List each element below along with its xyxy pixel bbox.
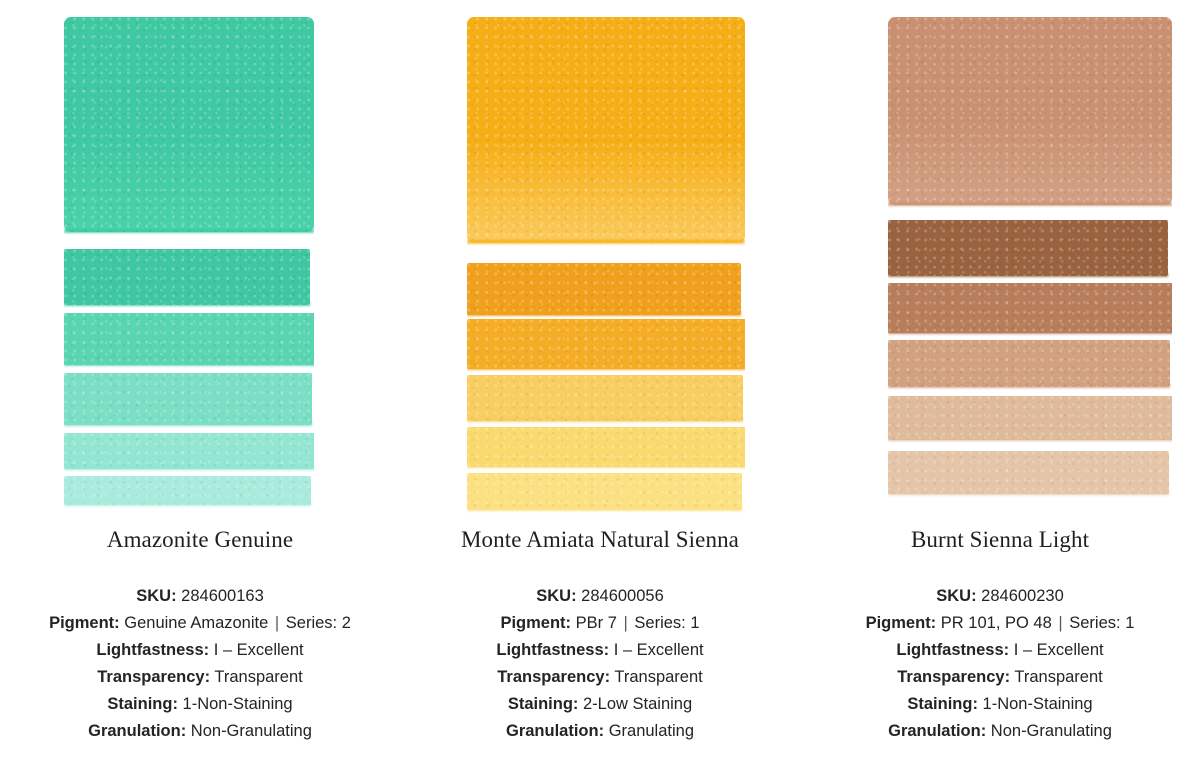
spec-label-transparency: Transparency: [897,668,1010,686]
spec-value-series: 1 [690,614,699,632]
swatch-band-4 [64,373,312,425]
product-card-burnt-sienna-light[interactable]: Burnt Sienna Light SKU: 284600230 Pigmen… [800,0,1200,784]
swatch-band-3 [467,319,745,369]
spec-value-granulation: Non-Granulating [991,722,1112,740]
swatch-band-4 [467,375,743,421]
spec-label-sku: SKU: [536,587,576,605]
spec-label-lightfastness: Lightfastness: [496,641,609,659]
spec-label-pigment: Pigment: [500,614,571,632]
spec-label-sku: SKU: [136,587,176,605]
spec-transparency: Transparency: Transparent [400,664,800,691]
spec-lightfastness: Lightfastness: I – Excellent [800,637,1200,664]
spec-value-lightfastness: I – Excellent [614,641,704,659]
spec-value-series: 1 [1125,614,1134,632]
spec-label-transparency: Transparency: [497,668,610,686]
product-card-amazonite-genuine[interactable]: Amazonite Genuine SKU: 284600163 Pigment… [0,0,400,784]
spec-pigment: Pigment: Genuine Amazonite | Series: 2 [0,610,400,637]
spec-transparency: Transparency: Transparent [0,664,400,691]
spec-label-transparency: Transparency: [97,668,210,686]
paint-swatch-image-monte-amiata-natural-sienna [467,17,745,517]
spec-label-granulation: Granulation: [506,722,604,740]
spec-staining: Staining: 2-Low Staining [400,691,800,718]
product-title: Burnt Sienna Light [800,527,1200,553]
spec-value-transparency: Transparent [1014,668,1102,686]
spec-label-granulation: Granulation: [88,722,186,740]
spec-pigment: Pigment: PBr 7 | Series: 1 [400,610,800,637]
paint-swatch-image-burnt-sienna-light [888,17,1172,517]
spec-separator: | [622,614,630,632]
spec-granulation: Granulation: Granulating [400,718,800,745]
spec-staining: Staining: 1-Non-Staining [800,691,1200,718]
spec-label-lightfastness: Lightfastness: [96,641,209,659]
spec-label-sku: SKU: [936,587,976,605]
spec-value-staining: 1-Non-Staining [983,695,1093,713]
spec-label-series: Series: [286,614,337,632]
spec-value-series: 2 [342,614,351,632]
spec-label-pigment: Pigment: [49,614,120,632]
spec-transparency: Transparency: Transparent [800,664,1200,691]
swatch-band-4 [888,340,1170,387]
spec-lightfastness: Lightfastness: I – Excellent [400,637,800,664]
spec-label-series: Series: [1069,614,1120,632]
spec-separator: | [273,614,281,632]
product-title: Amazonite Genuine [0,527,400,553]
paint-swatch-image-amazonite-genuine [64,17,314,517]
spec-value-sku: 284600230 [981,587,1064,605]
swatch-band-1 [64,17,314,232]
spec-sku: SKU: 284600056 [400,583,800,610]
spec-value-staining: 1-Non-Staining [183,695,293,713]
spec-label-pigment: Pigment: [866,614,937,632]
swatch-band-6 [467,473,742,510]
spec-granulation: Granulation: Non-Granulating [800,718,1200,745]
swatch-band-1 [467,17,745,243]
spec-granulation: Granulation: Non-Granulating [0,718,400,745]
spec-value-lightfastness: I – Excellent [214,641,304,659]
spec-sku: SKU: 284600230 [800,583,1200,610]
product-card-monte-amiata-natural-sienna[interactable]: Monte Amiata Natural Sienna SKU: 2846000… [400,0,800,784]
swatch-band-5 [888,396,1172,440]
product-title: Monte Amiata Natural Sienna [400,527,800,553]
swatch-comparison-grid: Amazonite Genuine SKU: 284600163 Pigment… [0,0,1200,784]
spec-value-pigment: Genuine Amazonite [124,614,268,632]
swatch-band-3 [64,313,314,365]
spec-sku: SKU: 284600163 [0,583,400,610]
swatch-band-2 [467,263,741,315]
spec-label-granulation: Granulation: [888,722,986,740]
spec-value-transparency: Transparent [614,668,702,686]
swatch-band-2 [888,220,1168,276]
spec-value-pigment: PR 101, PO 48 [941,614,1052,632]
spec-value-pigment: PBr 7 [576,614,617,632]
spec-value-sku: 284600163 [181,587,264,605]
spec-separator: | [1056,614,1064,632]
product-specs: SKU: 284600230 Pigment: PR 101, PO 48 | … [800,583,1200,745]
spec-value-granulation: Granulating [609,722,694,740]
swatch-band-6 [64,476,311,505]
product-specs: SKU: 284600163 Pigment: Genuine Amazonit… [0,583,400,745]
swatch-band-5 [64,433,314,469]
spec-value-granulation: Non-Granulating [191,722,312,740]
spec-value-sku: 284600056 [581,587,664,605]
spec-label-series: Series: [634,614,685,632]
spec-label-staining: Staining: [907,695,978,713]
spec-value-staining: 2-Low Staining [583,695,692,713]
swatch-band-6 [888,451,1169,494]
spec-lightfastness: Lightfastness: I – Excellent [0,637,400,664]
spec-label-staining: Staining: [107,695,178,713]
swatch-band-1 [888,17,1172,205]
spec-pigment: Pigment: PR 101, PO 48 | Series: 1 [800,610,1200,637]
product-specs: SKU: 284600056 Pigment: PBr 7 | Series: … [400,583,800,745]
spec-label-staining: Staining: [508,695,579,713]
swatch-band-5 [467,427,745,467]
spec-staining: Staining: 1-Non-Staining [0,691,400,718]
spec-value-transparency: Transparent [214,668,302,686]
swatch-band-2 [64,249,310,305]
spec-label-lightfastness: Lightfastness: [896,641,1009,659]
swatch-band-3 [888,283,1172,333]
spec-value-lightfastness: I – Excellent [1014,641,1104,659]
